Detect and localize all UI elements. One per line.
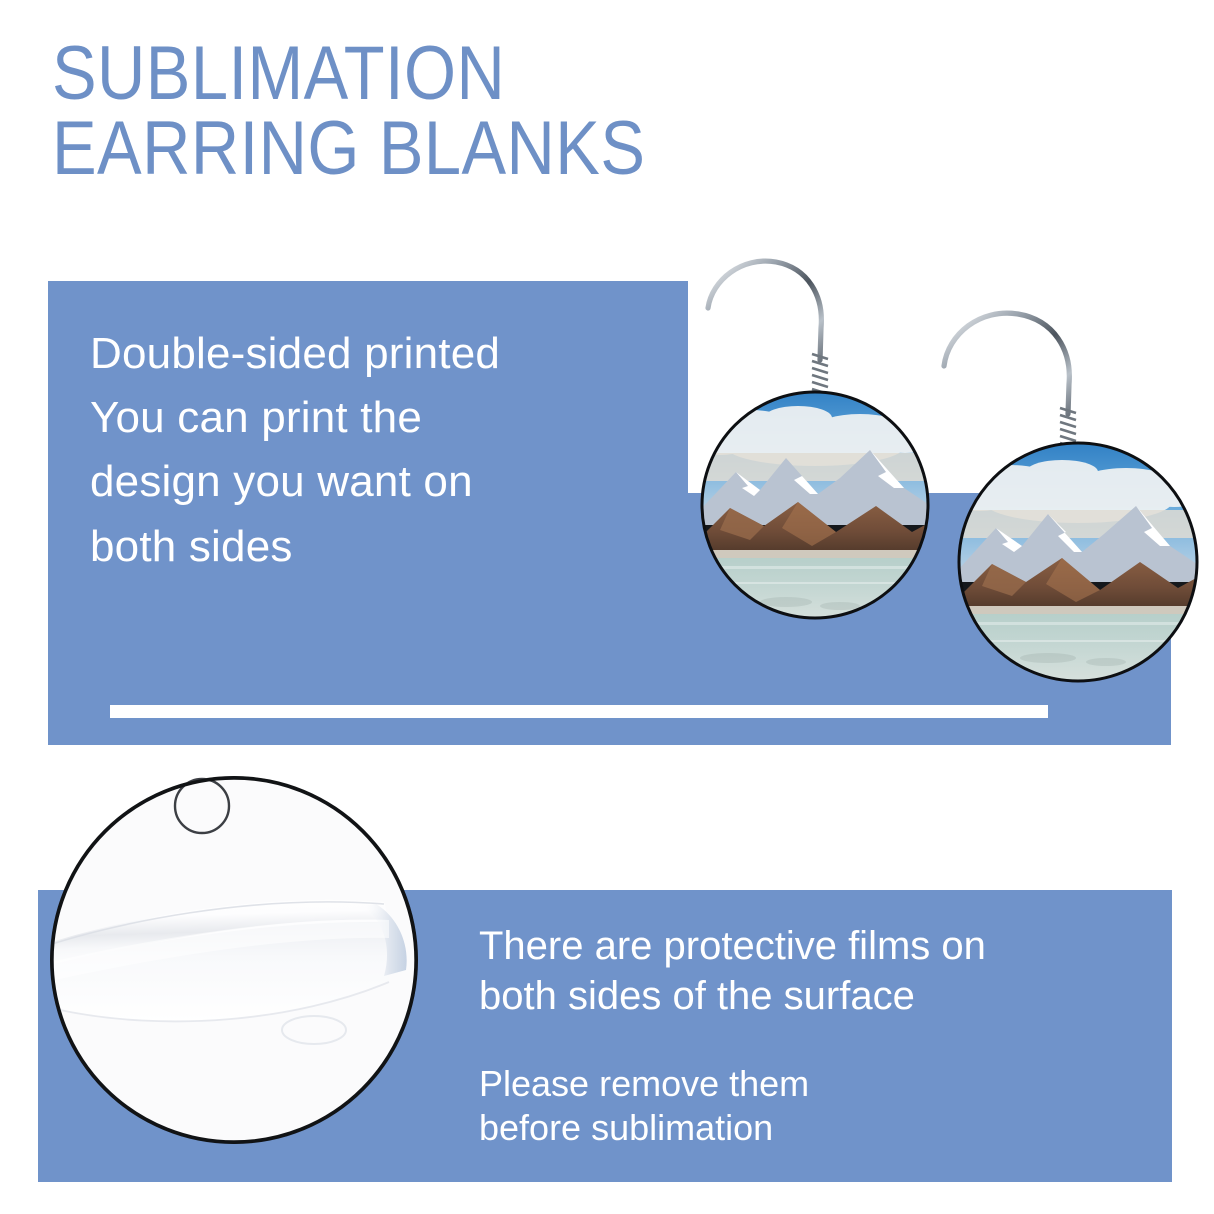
film-description-secondary: Please remove them before sublimation	[479, 1062, 1139, 1150]
film-description-primary: There are protective films on both sides…	[479, 922, 1139, 1021]
earring-left	[690, 250, 950, 630]
divider-rule	[110, 705, 1048, 718]
infographic-page: SUBLIMATION EARRING BLANKS Double-sided …	[0, 0, 1214, 1214]
hanging-hole	[175, 779, 229, 833]
pendant-disc	[948, 440, 1208, 682]
earring-right	[930, 290, 1214, 690]
blank-disc-with-protective-film	[44, 770, 424, 1150]
page-title: SUBLIMATION EARRING BLANKS	[52, 36, 914, 186]
feature-description-text: Double-sided printed You can print the d…	[90, 322, 650, 579]
pendant-disc	[690, 388, 939, 620]
